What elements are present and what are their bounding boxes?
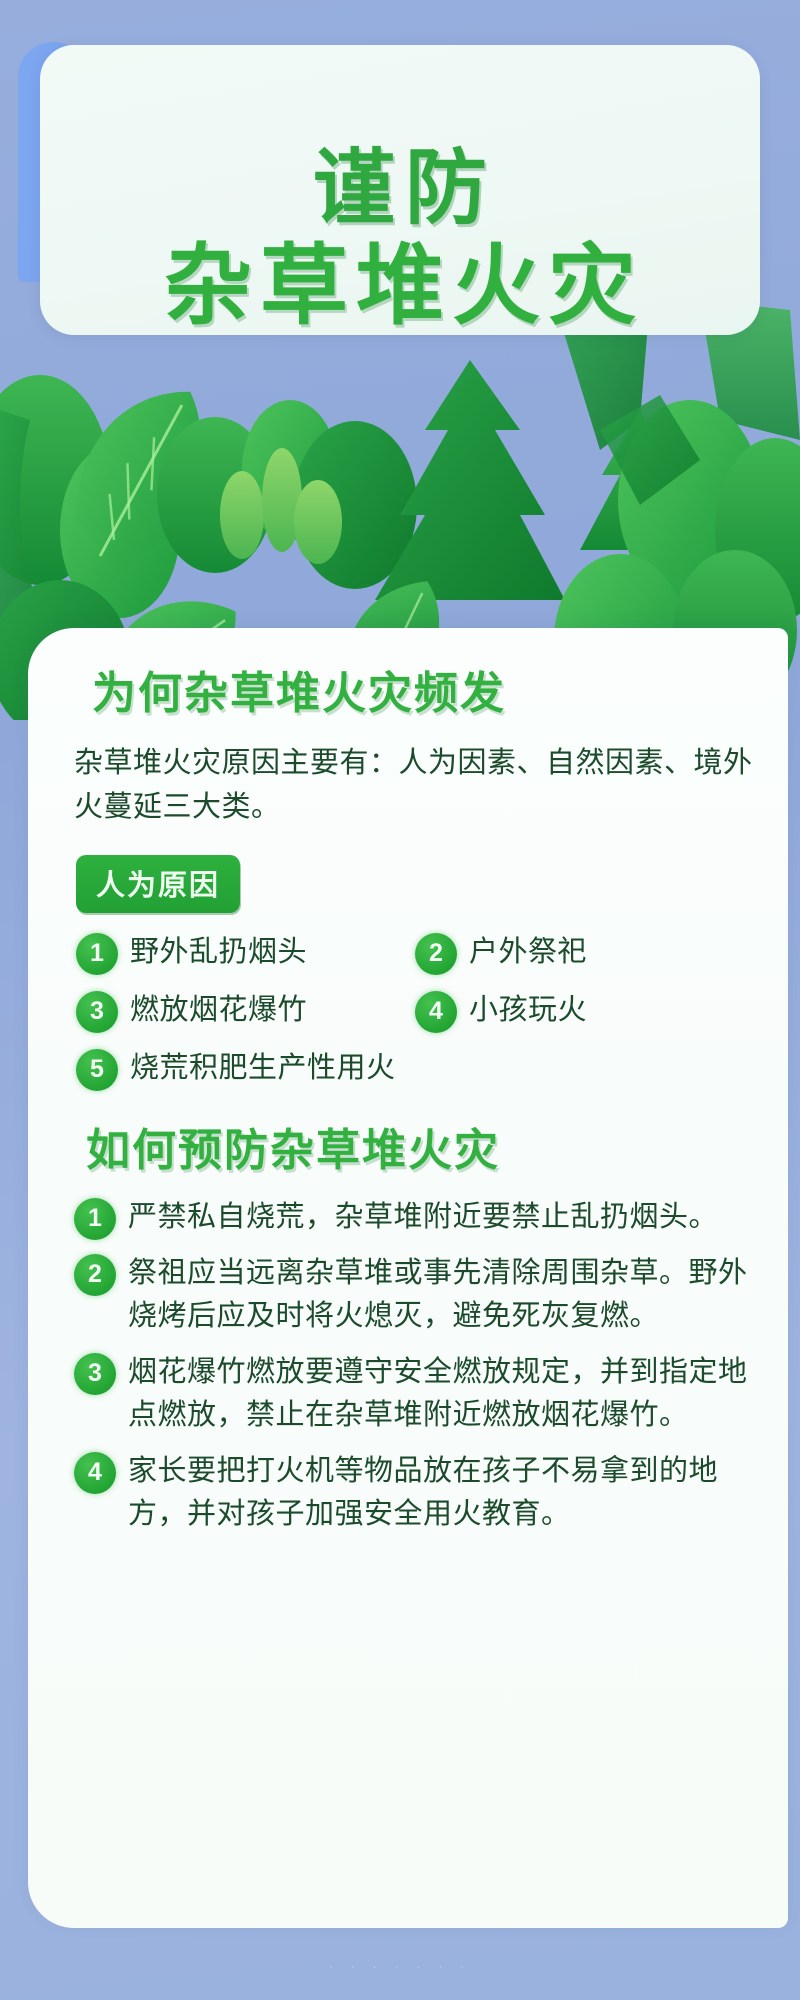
list-item: 1 野外乱扔烟头	[76, 931, 415, 975]
list-item: 1 严禁私自烧荒，杂草堆附近要禁止乱扔烟头。	[74, 1196, 754, 1240]
list-item: 2 户外祭祀	[415, 931, 754, 975]
poster-title-line2: 杂草堆火灾	[156, 236, 644, 335]
list-item-label: 野外乱扔烟头	[130, 931, 307, 973]
poster-title-line2-wrap: 杂草堆火灾	[40, 240, 760, 332]
list-item-label: 烧荒积肥生产性用火	[130, 1047, 396, 1089]
causes-list: 1 野外乱扔烟头 2 户外祭祀 3 燃放烟花爆竹 4 小孩玩火 5 烧荒积肥生产…	[76, 931, 754, 1091]
number-badge: 2	[74, 1254, 116, 1296]
list-item-label: 燃放烟花爆竹	[130, 989, 307, 1031]
causes-heading: 为何杂草堆火灾频发	[92, 668, 754, 721]
list-item: 2 祭祖应当远离杂草堆或事先清除周围杂草。野外烧烤后应及时将火熄灭，避免死灰复燃…	[74, 1252, 754, 1339]
list-item: 4 小孩玩火	[415, 989, 754, 1033]
list-item-label: 严禁私自烧荒，杂草堆附近要禁止乱扔烟头。	[128, 1196, 718, 1240]
list-item: 5 烧荒积肥生产性用火	[76, 1047, 754, 1091]
list-item-label: 小孩玩火	[469, 989, 587, 1031]
list-item-label: 家长要把打火机等物品放在孩子不易拿到的地方，并对孩子加强安全用火教育。	[128, 1450, 754, 1537]
poster-title-line1: 谨防	[303, 146, 497, 232]
list-item: 3 烟花爆竹燃放要遵守安全燃放规定，并到指定地点燃放，禁止在杂草堆附近燃放烟花爆…	[74, 1351, 754, 1438]
human-causes-tag: 人为原因	[76, 855, 240, 913]
content-card: 为何杂草堆火灾频发 杂草堆火灾原因主要有：人为因素、自然因素、境外火蔓延三大类。…	[28, 628, 788, 1928]
number-badge: 1	[74, 1198, 116, 1240]
footer-watermark: · · · · · · ·	[0, 1959, 800, 1974]
list-item-label: 祭祖应当远离杂草堆或事先清除周围杂草。野外烧烤后应及时将火熄灭，避免死灰复燃。	[128, 1252, 754, 1339]
causes-lead-text: 杂草堆火灾原因主要有：人为因素、自然因素、境外火蔓延三大类。	[74, 741, 754, 829]
number-badge: 1	[76, 933, 118, 975]
prevention-heading: 如何预防杂草堆火灾	[86, 1125, 754, 1178]
list-item: 4 家长要把打火机等物品放在孩子不易拿到的地方，并对孩子加强安全用火教育。	[74, 1450, 754, 1537]
list-item: 3 燃放烟花爆竹	[76, 989, 415, 1033]
number-badge: 3	[76, 991, 118, 1033]
number-badge: 4	[74, 1452, 116, 1494]
number-badge: 4	[415, 991, 457, 1033]
prevention-list: 1 严禁私自烧荒，杂草堆附近要禁止乱扔烟头。 2 祭祖应当远离杂草堆或事先清除周…	[74, 1196, 754, 1537]
list-item-label: 户外祭祀	[469, 931, 587, 973]
number-badge: 2	[415, 933, 457, 975]
number-badge: 3	[74, 1353, 116, 1395]
number-badge: 5	[76, 1049, 118, 1091]
list-item-label: 烟花爆竹燃放要遵守安全燃放规定，并到指定地点燃放，禁止在杂草堆附近燃放烟花爆竹。	[128, 1351, 754, 1438]
